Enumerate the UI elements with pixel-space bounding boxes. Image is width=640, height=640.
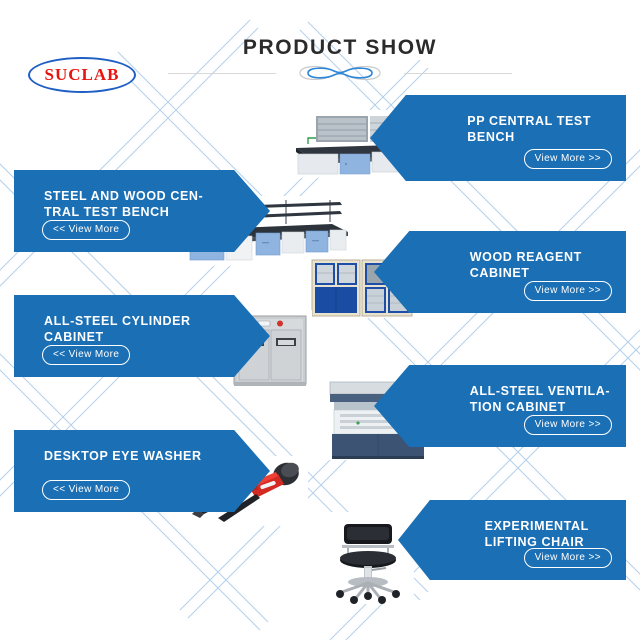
view-more-button[interactable]: View More >> [524, 281, 612, 301]
view-more-button[interactable]: View More >> [524, 149, 612, 169]
suclab-logo: SUCLAB [28, 57, 138, 95]
product-panel-desktop-eye-washer[interactable]: DESKTOP EYE WASHER << View More [14, 430, 270, 512]
view-more-button[interactable]: View More >> [524, 548, 612, 568]
experimental-lifting-chair-photo [322, 512, 414, 604]
product-panel-pp-central-test-bench[interactable]: PP CENTRAL TEST BENCH View More >> [370, 95, 626, 181]
product-panel-wood-reagent-cabinet[interactable]: WOOD REAGENT CABINET View More >> [374, 231, 626, 313]
panel-title: STEEL AND WOOD CEN-TRAL TEST BENCH [44, 188, 214, 220]
divider-line-left [168, 73, 276, 74]
product-show-page: SUCLAB PRODUCT SHOW [0, 0, 640, 640]
product-panel-all-steel-cylinder-cabinet[interactable]: ALL-STEEL CYLINDER CABINET << View More [14, 295, 270, 377]
page-title: PRODUCT SHOW [160, 36, 520, 60]
panel-title: ALL-STEEL CYLINDER CABINET [44, 313, 214, 345]
view-more-button[interactable]: << View More [42, 220, 130, 240]
panel-title: ALL-STEEL VENTILA-TION CABINET [470, 383, 614, 415]
panel-title: DESKTOP EYE WASHER [44, 448, 214, 464]
divider-line-right [404, 73, 512, 74]
view-more-button[interactable]: << View More [42, 480, 130, 500]
panel-title: EXPERIMENTAL LIFTING CHAIR [485, 518, 614, 550]
product-panel-all-steel-ventilation-cabinet[interactable]: ALL-STEEL VENTILA-TION CABINET View More… [374, 365, 626, 447]
panel-title: WOOD REAGENT CABINET [470, 249, 614, 281]
view-more-button[interactable]: View More >> [524, 415, 612, 435]
title-block: PRODUCT SHOW [160, 36, 520, 84]
panel-title: PP CENTRAL TEST BENCH [467, 113, 614, 145]
page-header: SUCLAB PRODUCT SHOW [0, 0, 640, 95]
view-more-button[interactable]: << View More [42, 345, 130, 365]
title-ornament [160, 62, 520, 84]
product-panel-experimental-lifting-chair[interactable]: EXPERIMENTAL LIFTING CHAIR View More >> [398, 500, 626, 580]
infinity-ornament-icon [292, 62, 388, 84]
logo-text: SUCLAB [28, 57, 136, 93]
product-panel-steel-and-wood-central-test-bench[interactable]: STEEL AND WOOD CEN-TRAL TEST BENCH << Vi… [14, 170, 270, 252]
